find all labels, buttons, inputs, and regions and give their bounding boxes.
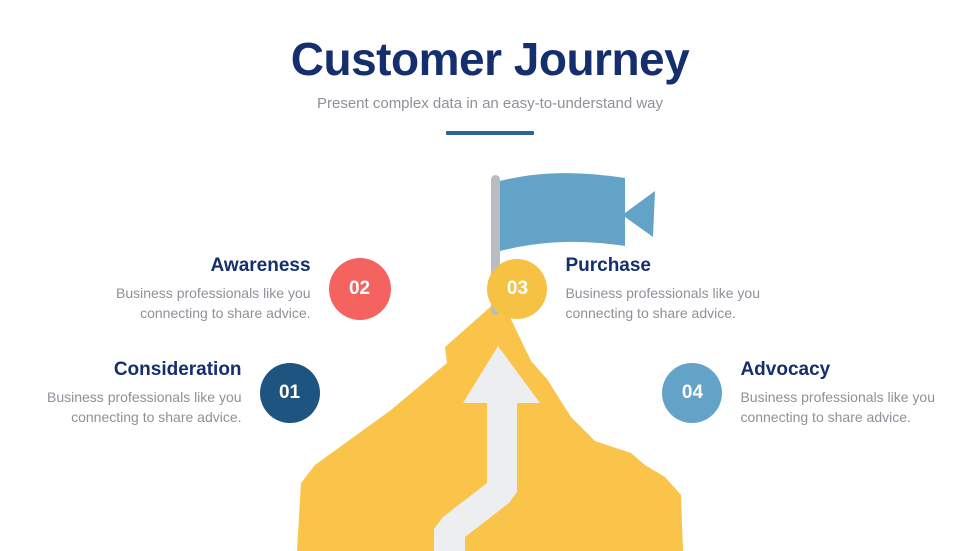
- page-title: Customer Journey: [0, 34, 980, 85]
- step-title: Consideration: [114, 358, 242, 382]
- step-description: Business professionals like you connecti…: [47, 387, 242, 428]
- page-subtitle: Present complex data in an easy-to-under…: [0, 95, 980, 113]
- mountain-illustration: [295, 165, 685, 551]
- step-text-block: Consideration Business professionals lik…: [47, 358, 242, 427]
- slide-header: Customer Journey Present complex data in…: [0, 34, 980, 135]
- step-number-badge-04[interactable]: 04: [662, 363, 722, 423]
- step-title: Advocacy: [740, 358, 830, 382]
- step-number-badge-03[interactable]: 03: [487, 259, 547, 319]
- flag-banner: [500, 173, 655, 251]
- step-description: Business professionals like you connecti…: [565, 283, 760, 324]
- step-item-awareness[interactable]: Awareness Business professionals like yo…: [116, 254, 391, 323]
- step-number-badge-02[interactable]: 02: [329, 258, 391, 320]
- slide-canvas: Customer Journey Present complex data in…: [0, 0, 980, 551]
- step-item-consideration[interactable]: Consideration Business professionals lik…: [47, 358, 320, 427]
- step-text-block: Advocacy Business professionals like you…: [740, 358, 935, 427]
- step-text-block: Purchase Business professionals like you…: [565, 254, 760, 323]
- step-item-purchase[interactable]: 03 Purchase Business professionals like …: [487, 254, 760, 323]
- title-underline-rule: [446, 131, 534, 135]
- step-title: Awareness: [211, 254, 311, 278]
- step-description: Business professionals like you connecti…: [740, 387, 935, 428]
- step-text-block: Awareness Business professionals like yo…: [116, 254, 311, 323]
- step-description: Business professionals like you connecti…: [116, 283, 311, 324]
- step-item-advocacy[interactable]: 04 Advocacy Business professionals like …: [662, 358, 935, 427]
- step-title: Purchase: [565, 254, 651, 278]
- step-number-badge-01[interactable]: 01: [260, 363, 320, 423]
